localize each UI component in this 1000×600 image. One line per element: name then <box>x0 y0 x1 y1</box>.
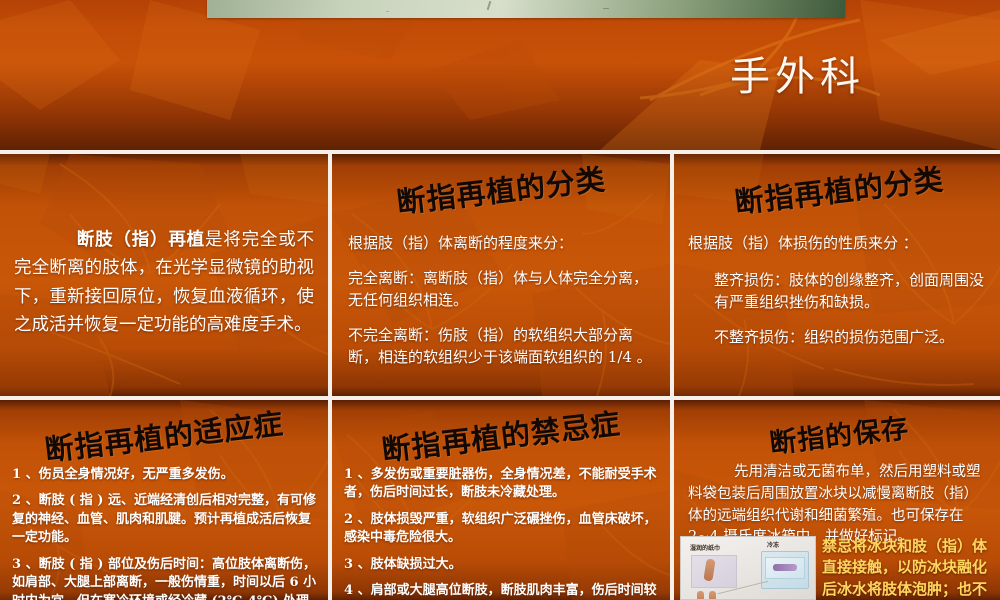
list-item: 1 、伤员全身情况好，无严重多发伤。 <box>12 466 318 484</box>
preservation-paragraph: 先用清洁或无菌布单，然后用塑料或塑料袋包装后周围放置冰块以减慢离断肢（指）体的远… <box>688 464 981 545</box>
slide-grid-page: 手外科 <box>0 0 1000 600</box>
definition-lead: 断肢（指）再植 <box>76 230 205 250</box>
slide-card-definition[interactable]: 断肢（指）再植是将完全或不完全断离的肢体，在光学显微镜的助视下，重新接回原位，恢… <box>0 154 328 396</box>
severed-finger-icon <box>709 591 716 600</box>
paragraph: 不整齐损伤：组织的损伤范围广泛。 <box>688 326 992 349</box>
paragraph-lead: 根据肢（指）体损伤的性质来分 ： <box>688 232 992 255</box>
slide-heading: 断指再植的分类 <box>674 154 1000 229</box>
slide-grid: 断肢（指）再植是将完全或不完全断离的肢体，在光学显微镜的助视下，重新接回原位，恢… <box>0 154 1000 600</box>
classification-degree-body: 根据肢（指）体离断的程度来分： 完全离断：离断肢（指）体与人体完全分离，无任何组… <box>348 232 656 381</box>
photo-label-left: 湿润的纸巾 <box>690 543 720 552</box>
list-item: 2 、断肢 ( 指 ) 远、近端经清创后相对完整，有可修复的神经、血管、肌肉和肌… <box>12 492 318 547</box>
definition-paragraph: 断肢（指）再植是将完全或不完全断离的肢体，在光学显微镜的助视下，重新接回原位，恢… <box>14 226 314 339</box>
list-item: 3 、肢体缺损过大。 <box>344 556 660 574</box>
page-title: 手外科 <box>730 44 865 102</box>
severed-finger-icon <box>697 591 704 600</box>
green-banner <box>207 0 845 18</box>
specimen-vial-icon <box>773 564 797 571</box>
paragraph: 完全离断：离断肢（指）体与人体完全分离，无任何组织相连。 <box>348 267 656 312</box>
preservation-warning: 禁忌将冰块和肢（指）体直接接触，以防冰块融化后冰水将肢体泡肿；也不可以将断肢（指… <box>822 536 996 600</box>
indications-list: 1 、伤员全身情况好，无严重多发伤。 2 、断肢 ( 指 ) 远、近端经清创后相… <box>12 466 318 600</box>
paragraph: 整齐损伤：肢体的创缘整齐，创面周围没有严重组织挫伤和缺损。 <box>688 269 992 314</box>
classification-nature-body: 根据肢（指）体损伤的性质来分 ： 整齐损伤：肢体的创缘整齐，创面周围没有严重组织… <box>688 232 992 360</box>
slide-card-contraindications[interactable]: 断指再植的禁忌症 1 、多发伤或重要脏器伤，全身情况差，不能耐受手术者，伤后时间… <box>332 400 670 600</box>
list-item: 2 、肢体损毁严重，软组织广泛碾挫伤，血管床破坏，感染中毒危险很大。 <box>344 511 660 548</box>
list-item: 3 、断肢 ( 指 ) 部位及伤后时间：高位肢体离断伤，如肩部、大腿上部离断，一… <box>12 556 318 600</box>
slide-card-preservation[interactable]: 断指的保存 先用清洁或无菌布单，然后用塑料或塑料袋包装后周围放置冰块以减慢离断肢… <box>674 400 1000 600</box>
photo-label-right: 冷冻 <box>767 540 779 549</box>
slide-card-indications[interactable]: 断指再植的适应症 1 、伤员全身情况好，无严重多发伤。 2 、断肢 ( 指 ) … <box>0 400 328 600</box>
paragraph: 不完全离断：伤肢（指）的软组织大部分离断，相连的软组织少于该端面软组织的 1/4… <box>348 324 656 369</box>
list-item: 1 、多发伤或重要脏器伤，全身情况差，不能耐受手术者，伤后时间过长，断肢未冷藏处… <box>344 466 660 503</box>
slide-heading: 断指再植的适应症 <box>0 400 328 474</box>
slide-card-classification-nature[interactable]: 断指再植的分类 根据肢（指）体损伤的性质来分 ： 整齐损伤：肢体的创缘整齐，创面… <box>674 154 1000 396</box>
paragraph: 根据肢（指）体离断的程度来分： <box>348 232 656 255</box>
slide-heading: 断指再植的禁忌症 <box>332 400 670 475</box>
slide-card-classification-degree[interactable]: 断指再植的分类 根据肢（指）体离断的程度来分： 完全离断：离断肢（指）体与人体完… <box>332 154 670 396</box>
page-header: 手外科 <box>0 0 1000 150</box>
contraindications-list: 1 、多发伤或重要脏器伤，全身情况差，不能耐受手术者，伤后时间过长，断肢未冷藏处… <box>344 466 660 600</box>
slide-heading: 断指再植的分类 <box>332 154 670 229</box>
slide-heading: 断指的保存 <box>674 400 1000 472</box>
preservation-photo[interactable]: 湿润的纸巾 冷冻 <box>680 536 816 600</box>
list-item: 4 、肩部或大腿高位断肢，断肢肌肉丰富，伤后时间较长，或软组织挫伤严重。尤其年老… <box>344 582 660 600</box>
